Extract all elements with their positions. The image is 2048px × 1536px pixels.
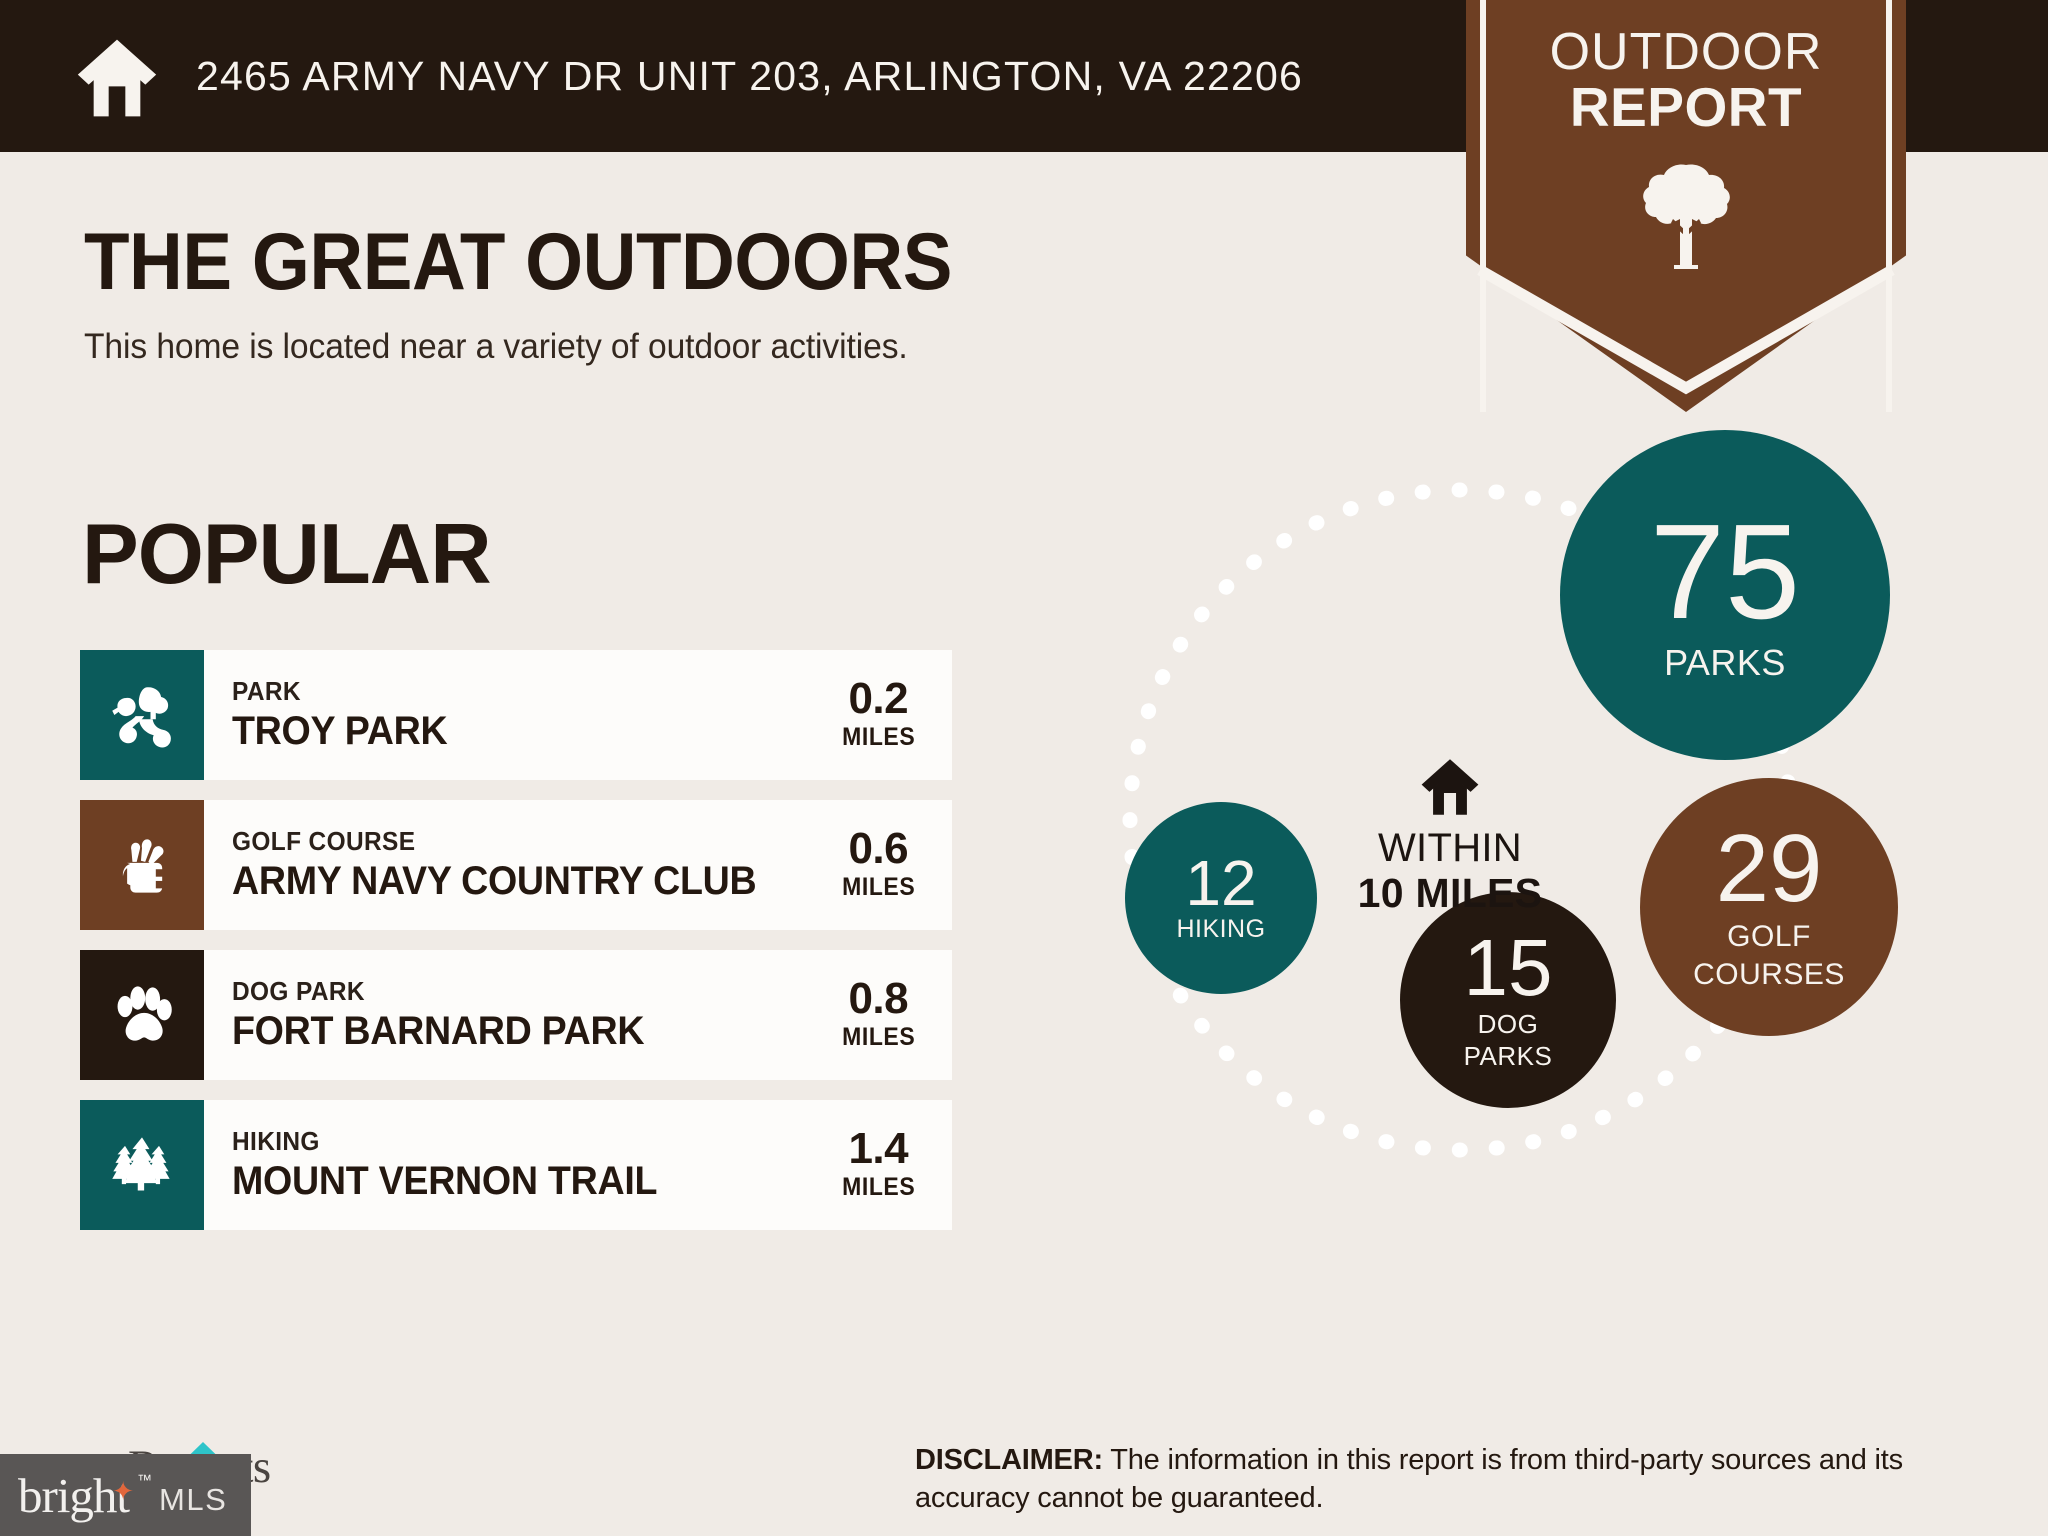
home-icon [1418, 758, 1482, 816]
stat-bubble-hiking[interactable]: 12 HIKING [1125, 802, 1317, 994]
list-item-category: DOG PARK [232, 977, 789, 1007]
distance-unit: MILES [842, 871, 915, 904]
paw-print-icon [80, 950, 204, 1080]
list-item-name: MOUNT VERNON TRAIL [232, 1159, 789, 1204]
distance-value: 0.6 [839, 827, 918, 871]
page-title: THE GREAT OUTDOORS [84, 222, 952, 303]
page-subtitle: This home is located near a variety of o… [84, 327, 990, 367]
spark-icon: ✦ [112, 1479, 133, 1505]
list-item-category: GOLF COURSE [232, 827, 789, 857]
distance-value: 0.8 [839, 977, 918, 1021]
stat-label-parks: PARKS [1664, 644, 1786, 683]
popular-list: PARK TROY PARK 0.2 MILES GOLF COU [80, 650, 952, 1250]
list-item-distance: 1.4 MILES [825, 1127, 952, 1204]
list-item-text: DOG PARK FORT BARNARD PARK [232, 977, 825, 1054]
badge-title-line1: OUTDOOR [1466, 26, 1906, 79]
popular-section-heading: POPULAR [82, 512, 491, 597]
brightmls-brand-suffix: MLS [159, 1482, 227, 1518]
within-10-miles-chart: 75 PARKS 29 GOLF COURSES 15 DOG PARKS 12… [1080, 430, 1960, 1310]
home-icon [74, 38, 160, 118]
chart-center-label: WITHIN 10 MILES [1320, 758, 1580, 917]
stat-bubble-parks[interactable]: 75 PARKS [1560, 430, 1890, 760]
list-item-name: ARMY NAVY COUNTRY CLUB [232, 859, 789, 904]
trademark-icon: ™ [137, 1473, 151, 1488]
stat-label-golf-line2: COURSES [1693, 959, 1845, 991]
list-item-distance: 0.2 MILES [825, 677, 952, 754]
stat-value-parks: 75 [1650, 507, 1800, 637]
list-item-body: GOLF COURSE ARMY NAVY COUNTRY CLUB 0.6 M… [204, 800, 952, 930]
list-item-category: HIKING [232, 1127, 789, 1157]
distance-value: 1.4 [839, 1127, 918, 1171]
stat-label-hiking: HIKING [1176, 916, 1265, 943]
distance-unit: MILES [842, 1021, 915, 1054]
list-item-text: PARK TROY PARK [232, 677, 825, 754]
pine-trees-icon [80, 1100, 204, 1230]
brightmls-brand-name: bright ✦ ™ [18, 1471, 129, 1520]
list-item-distance: 0.6 MILES [825, 827, 952, 904]
chart-center-line2: 10 MILES [1320, 870, 1580, 917]
badge-content: OUTDOOR REPORT [1466, 26, 1906, 271]
list-item-distance: 0.8 MILES [825, 977, 952, 1054]
list-item-text: HIKING MOUNT VERNON TRAIL [232, 1127, 825, 1204]
outdoor-report-badge: OUTDOOR REPORT [1466, 0, 1906, 412]
badge-chevron-border [1480, 270, 1892, 390]
distance-unit: MILES [842, 1171, 915, 1204]
stat-label-dog-line1: DOG [1478, 1010, 1539, 1038]
brightmls-logo[interactable]: bright ✦ ™ MLS [0, 1454, 251, 1536]
stat-bubble-dog-parks[interactable]: 15 DOG PARKS [1400, 892, 1616, 1108]
list-item[interactable]: PARK TROY PARK 0.2 MILES [80, 650, 952, 780]
list-item-category: PARK [232, 677, 789, 707]
stat-label-golf-line1: GOLF [1727, 921, 1811, 953]
list-item[interactable]: DOG PARK FORT BARNARD PARK 0.8 MILES [80, 950, 952, 1080]
stat-value-hiking: 12 [1185, 853, 1256, 914]
stat-value-dog-parks: 15 [1464, 930, 1553, 1007]
list-item-body: PARK TROY PARK 0.2 MILES [204, 650, 952, 780]
list-item[interactable]: HIKING MOUNT VERNON TRAIL 1.4 MILES [80, 1100, 952, 1230]
distance-unit: MILES [842, 721, 915, 754]
list-item-body: DOG PARK FORT BARNARD PARK 0.8 MILES [204, 950, 952, 1080]
list-item-name: TROY PARK [232, 709, 789, 754]
list-item[interactable]: GOLF COURSE ARMY NAVY COUNTRY CLUB 0.6 M… [80, 800, 952, 930]
distance-value: 0.2 [839, 677, 918, 721]
disclaimer-text: DISCLAIMER: The information in this repo… [915, 1441, 1985, 1518]
stat-value-golf-courses: 29 [1716, 823, 1823, 915]
stat-bubble-golf-courses[interactable]: 29 GOLF COURSES [1640, 778, 1898, 1036]
property-address: 2465 ARMY NAVY DR UNIT 203, ARLINGTON, V… [196, 53, 1303, 100]
list-item-text: GOLF COURSE ARMY NAVY COUNTRY CLUB [232, 827, 825, 904]
stat-label-dog-line2: PARKS [1464, 1042, 1553, 1070]
page-title-block: THE GREAT OUTDOORS This home is located … [84, 222, 1028, 367]
golf-bag-icon [80, 800, 204, 930]
list-item-name: FORT BARNARD PARK [232, 1009, 789, 1054]
tree-icon [1640, 161, 1732, 271]
disclaimer-label: DISCLAIMER: [915, 1444, 1103, 1476]
badge-title-line2: REPORT [1466, 79, 1906, 137]
chart-center-line1: WITHIN [1320, 826, 1580, 870]
list-item-body: HIKING MOUNT VERNON TRAIL 1.4 MILES [204, 1100, 952, 1230]
park-trees-icon [80, 650, 204, 780]
